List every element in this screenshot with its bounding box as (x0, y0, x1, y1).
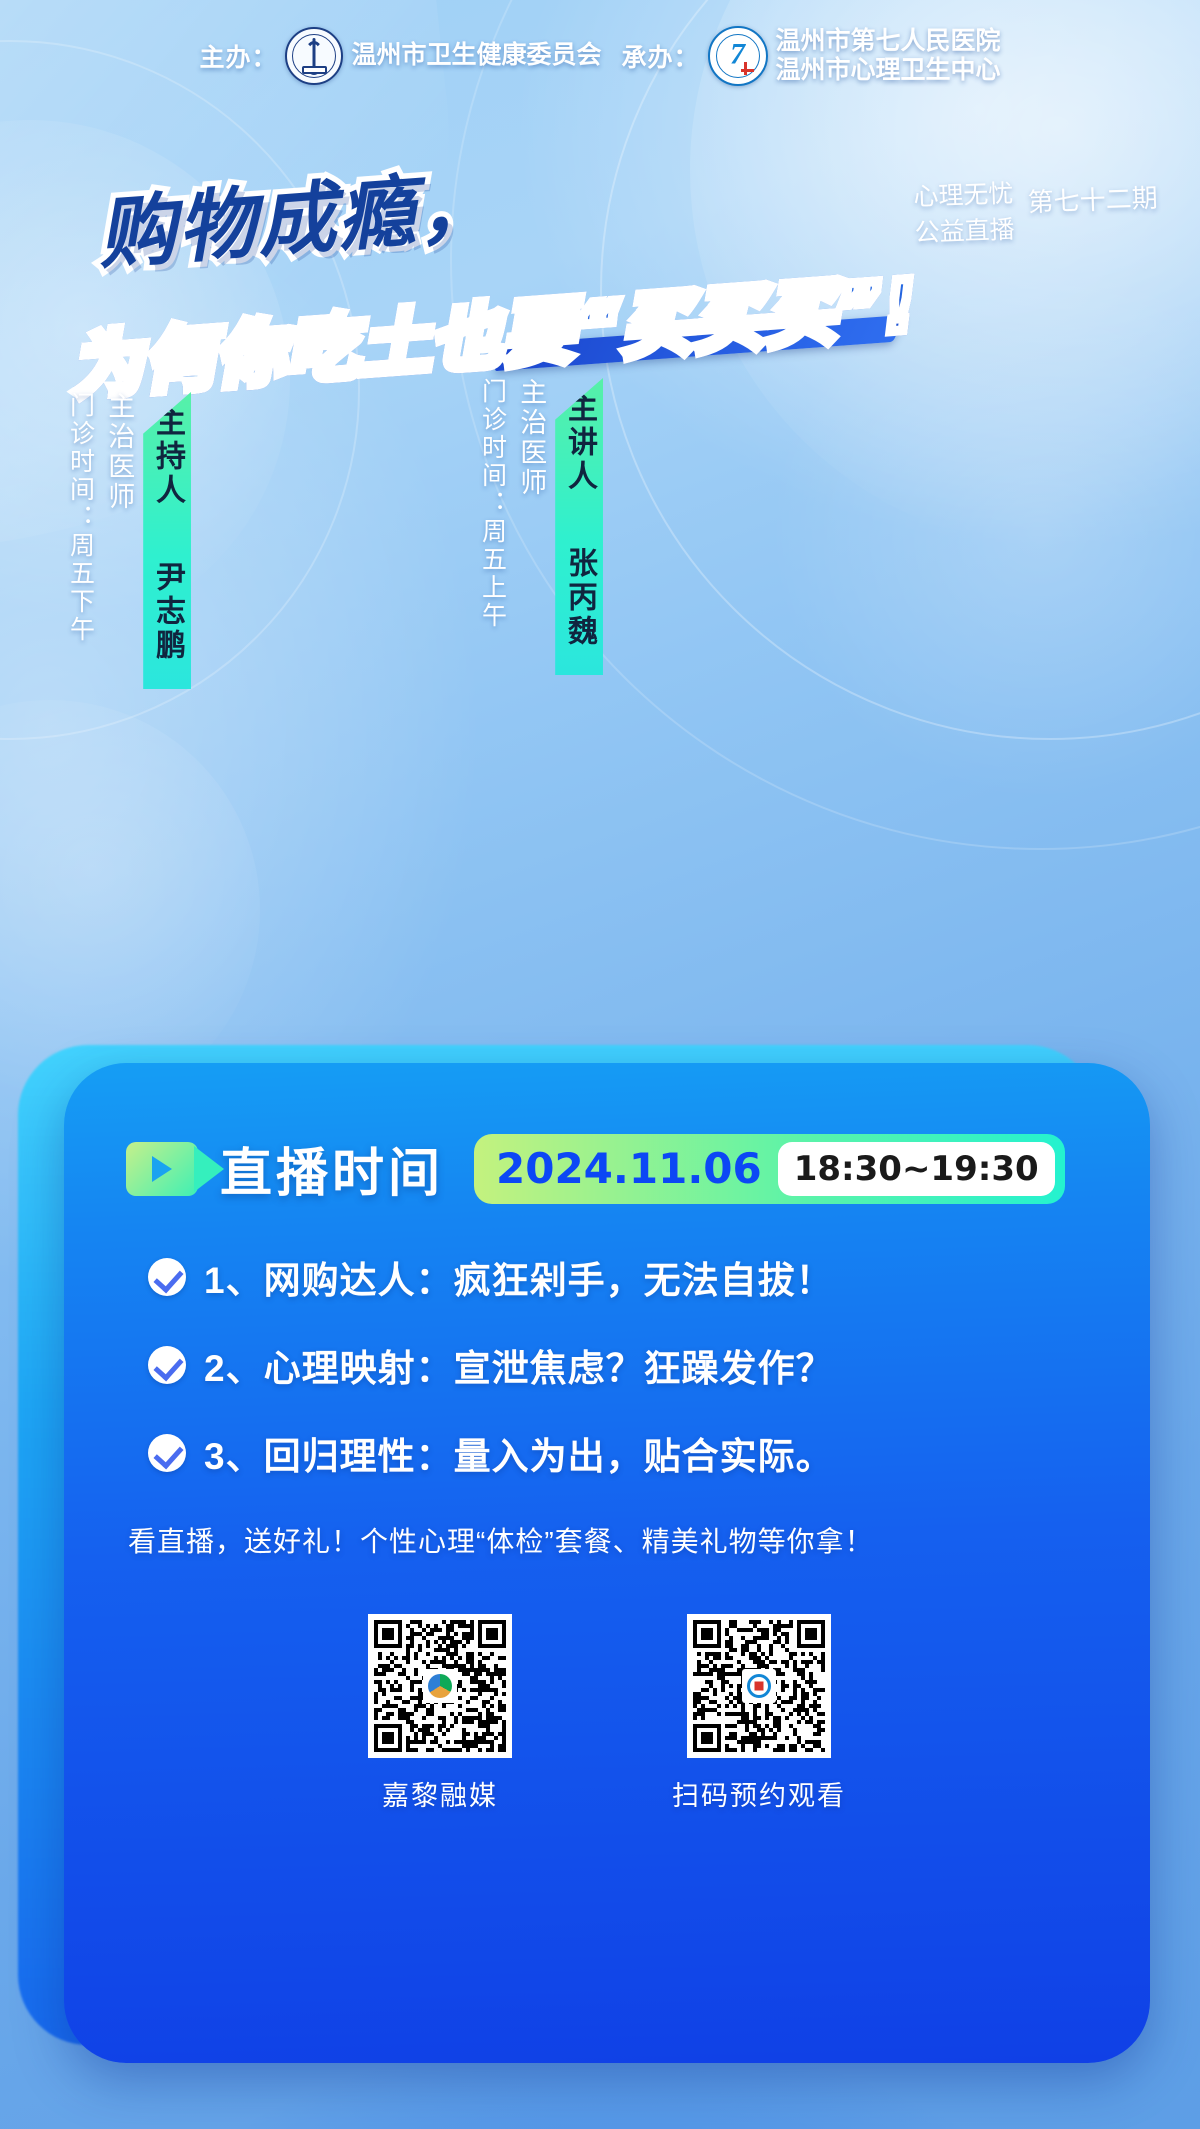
speaker-caption: 门诊时间：周五上午 主治医师 主讲人 张丙魏 (478, 378, 603, 675)
coorganizer-group: 承办： 7 温州市第七人民医院 温州市心理卫生中心 (622, 26, 1001, 86)
speaker-title: 主治医师 (516, 378, 546, 498)
list-item: 2、心理映射：宣泄焦虑？狂躁发作？ (148, 1338, 1104, 1392)
host-organizer-group: 主办： 温州市卫生健康委员会 (199, 27, 601, 85)
host-caption: 门诊时间：周五下午 主治医师 主持人 尹志鹏 (66, 392, 191, 689)
qr-item-booking[interactable]: 扫码预约观看 (672, 1614, 846, 1813)
promo-text: 看直播，送好礼！个性心理“体检”套餐、精美礼物等你拿！ (128, 1520, 1104, 1560)
series-name-line1: 心理无忧 (913, 177, 1014, 216)
host-name: 尹志鹏 (151, 561, 184, 663)
live-time-range: 18:30~19:30 (778, 1142, 1055, 1196)
coorganizer-name-line2: 温州市心理卫生中心 (776, 56, 1001, 86)
host-clinic-hours: 门诊时间：周五下午 (66, 392, 94, 644)
qr-code-icon[interactable] (368, 1614, 512, 1758)
qr-item-media[interactable]: 嘉黎融媒 (368, 1614, 512, 1813)
info-card: 直播时间 2024.11.06 18:30~19:30 1、网购达人：疯狂剁手，… (64, 1063, 1150, 2063)
qr-code-icon[interactable] (687, 1614, 831, 1758)
speaker-role-tag: 主讲人 张丙魏 (555, 378, 603, 675)
speaker-name: 张丙魏 (563, 547, 596, 649)
topic-text: 1、网购达人：疯狂剁手，无法自拔！ (204, 1250, 834, 1304)
live-time-title: 直播时间 (220, 1131, 444, 1206)
coorganizer-name: 温州市第七人民医院 温州市心理卫生中心 (776, 27, 1001, 86)
series-name: 心理无忧 公益直播 (913, 177, 1015, 251)
coorganizer-label: 承办： (622, 38, 700, 74)
qr-label: 嘉黎融媒 (382, 1774, 498, 1813)
host-title: 主治医师 (104, 392, 134, 512)
series-issue: 第七十二期 (1027, 178, 1159, 247)
list-item: 3、回归理性：量入为出，贴合实际。 (148, 1426, 1104, 1480)
live-date: 2024.11.06 (496, 1144, 778, 1193)
wenzhou-seventh-hospital-seal-icon: 7 (708, 26, 768, 86)
coorganizer-name-line1: 温州市第七人民医院 (776, 27, 1001, 57)
series-caption: 心理无忧 公益直播 第七十二期 (913, 172, 1159, 251)
live-date-pill: 2024.11.06 18:30~19:30 (474, 1134, 1065, 1204)
check-circle-icon (148, 1258, 186, 1296)
series-name-line2: 公益直播 (914, 212, 1015, 251)
speaker-role: 主讲人 (563, 392, 596, 494)
topic-list: 1、网购达人：疯狂剁手，无法自拔！ 2、心理映射：宣泄焦虑？狂躁发作？ 3、回归… (148, 1250, 1104, 1480)
topic-text: 2、心理映射：宣泄焦虑？狂躁发作？ (204, 1338, 834, 1392)
host-name: 温州市卫生健康委员会 (351, 41, 601, 71)
poster-root: 主办： 温州市卫生健康委员会 承办： 7 温州市第七人民医院 温州市心理卫生中心… (0, 0, 1200, 2129)
qr-label: 扫码预约观看 (672, 1774, 846, 1813)
organizer-header: 主办： 温州市卫生健康委员会 承办： 7 温州市第七人民医院 温州市心理卫生中心 (0, 26, 1200, 86)
video-camera-icon (126, 1142, 198, 1196)
host-role-tag: 主持人 尹志鹏 (143, 392, 191, 689)
check-circle-icon (148, 1434, 186, 1472)
list-item: 1、网购达人：疯狂剁手，无法自拔！ (148, 1250, 1104, 1304)
qr-code-row: 嘉黎融媒 扫码预约观看 (110, 1614, 1104, 1813)
speaker-clinic-hours: 门诊时间：周五上午 (478, 378, 506, 630)
host-role: 主持人 (151, 406, 184, 508)
wenzhou-health-commission-seal-icon (285, 27, 343, 85)
live-time-row: 直播时间 2024.11.06 18:30~19:30 (126, 1131, 1104, 1206)
host-label: 主办： (199, 38, 277, 74)
check-circle-icon (148, 1346, 186, 1384)
headline-block: 购物成瘾， 为何你吃土也要“买买买”! (0, 132, 1200, 371)
topic-text: 3、回归理性：量入为出，贴合实际。 (204, 1426, 834, 1480)
